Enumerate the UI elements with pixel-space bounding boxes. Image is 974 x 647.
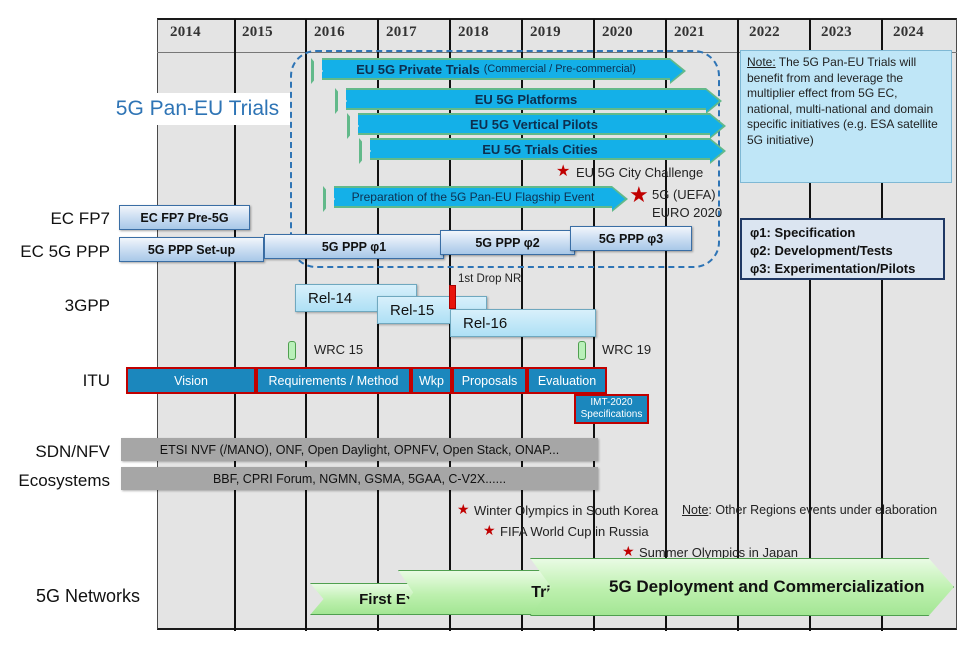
star-icon-summer-olympics: ★ (622, 544, 635, 558)
bar-itu-wkp[interactable]: Wkp (411, 367, 452, 394)
bar-label: Evaluation (538, 374, 596, 388)
label-5g-uefa: 5G (UEFA) (652, 187, 716, 202)
label-summer-olympics: Summer Olympics in Japan (639, 545, 798, 560)
label-eu-5g-city-challenge: EU 5G City Challenge (576, 165, 703, 180)
year-label-2015: 2015 (242, 24, 273, 41)
bar-label: Preparation of the 5G Pan-EU Flagship Ev… (352, 190, 595, 204)
chevron-head-inner-icon (706, 90, 719, 112)
chevron-head-inner-icon (710, 115, 723, 137)
bar-label: Vision (174, 374, 208, 388)
regions-note-text: : Other Regions events under elaboration (708, 503, 937, 517)
grid-line (665, 19, 667, 631)
bar-ecosystems[interactable]: BBF, CPRI Forum, NGMN, GSMA, 5GAA, C-V2X… (121, 467, 598, 490)
year-label-2019: 2019 (530, 24, 561, 41)
wrc-15-marker-icon (288, 341, 296, 360)
chevron-head-inner-icon (710, 140, 723, 162)
row-label-itu: ITU (0, 371, 110, 391)
chevron-tail-inner-icon (326, 188, 335, 210)
bar-label: Wkp (419, 374, 444, 388)
chevron-tail-inner-icon (350, 115, 359, 137)
bar-sublabel: (Commercial / Pre-commercial) (484, 63, 636, 75)
label-fifa-world-cup: FIFA World Cup in Russia (500, 524, 649, 539)
bar-5g-ppp-phi2[interactable]: 5G PPP φ2 (440, 230, 575, 255)
bar-eu-5g-platforms[interactable]: EU 5G Platforms (346, 88, 706, 110)
phase-2: φ2: Development/Tests (750, 242, 935, 260)
star-icon-winter-olympics: ★ (457, 502, 470, 516)
bar-label: Rel-16 (463, 315, 507, 332)
phase-legend: φ1: Specification φ2: Development/Tests … (740, 218, 945, 280)
regions-note: Note: Other Regions events under elabora… (682, 503, 937, 517)
bar-itu-evaluation[interactable]: Evaluation (527, 367, 607, 394)
year-label-2018: 2018 (458, 24, 489, 41)
chevron-tail-inner-icon (314, 60, 323, 82)
timeline-diagram: 2014 2015 2016 2017 2018 2019 2020 2021 … (0, 0, 974, 647)
bar-label: Rel-15 (390, 302, 434, 319)
arrow-label: 5G Deployment and Commercialization (609, 577, 925, 597)
imt-line-2: Specifications (581, 409, 643, 421)
bar-itu-vision[interactable]: Vision (126, 367, 256, 394)
row-label-ec-fp7: EC FP7 (0, 209, 110, 229)
star-icon-uefa-euro: ★ (629, 184, 649, 206)
bar-label: 5G PPP φ3 (599, 232, 663, 246)
grid-line (377, 19, 379, 631)
year-label-2016: 2016 (314, 24, 345, 41)
wrc-19-marker-icon (578, 341, 586, 360)
year-label-2017: 2017 (386, 24, 417, 41)
bar-eu-5g-vertical-pilots[interactable]: EU 5G Vertical Pilots (358, 113, 710, 135)
bar-sdn-nfv[interactable]: ETSI NVF (/MANO), ONF, Open Daylight, OP… (121, 438, 598, 461)
row-label-3gpp: 3GPP (0, 296, 110, 316)
imt-line-1: IMT-2020 (590, 397, 632, 409)
bar-label: 5G PPP Set-up (148, 243, 235, 257)
bar-label: 5G PPP φ2 (475, 236, 539, 250)
label-wrc-19: WRC 19 (602, 342, 651, 357)
bar-label: Rel-14 (308, 290, 352, 307)
bar-5g-ppp-phi1[interactable]: 5G PPP φ1 (264, 234, 444, 259)
bar-label: EU 5G Vertical Pilots (470, 117, 598, 132)
regions-note-label: Note (682, 503, 708, 517)
bar-eu-5g-private-trials[interactable]: EU 5G Private Trials (Commercial / Pre-c… (322, 58, 670, 80)
box-imt-2020-specifications[interactable]: IMT-2020 Specifications (574, 394, 649, 424)
bar-label: EU 5G Platforms (475, 92, 578, 107)
first-drop-nr-marker-icon (449, 285, 456, 309)
star-icon-fifa-world-cup: ★ (483, 523, 496, 537)
bar-5g-ppp-setup[interactable]: 5G PPP Set-up (119, 237, 264, 262)
bar-rel-16[interactable]: Rel-16 (450, 309, 596, 337)
bar-label: EU 5G Trials Cities (482, 142, 598, 157)
phase-1: φ1: Specification (750, 224, 935, 242)
year-label-2022: 2022 (749, 24, 780, 41)
year-label-2020: 2020 (602, 24, 633, 41)
star-icon-city-challenge: ★ (556, 164, 570, 180)
pan-eu-title: 5G Pan-EU Trials (105, 93, 290, 125)
row-label-ecosystems: Ecosystems (0, 471, 110, 491)
bar-label: 5G PPP φ1 (322, 240, 386, 254)
bar-label: EC FP7 Pre-5G (140, 211, 228, 225)
bar-label: BBF, CPRI Forum, NGMN, GSMA, 5GAA, C-V2X… (213, 472, 506, 486)
row-label-sdn-nfv: SDN/NFV (0, 442, 110, 462)
bar-eu-5g-trials-cities[interactable]: EU 5G Trials Cities (370, 138, 710, 160)
phase-3: φ3: Experimentation/Pilots (750, 260, 935, 278)
bar-preparation-flagship-event[interactable]: Preparation of the 5G Pan-EU Flagship Ev… (334, 186, 612, 208)
bar-itu-requirements-method[interactable]: Requirements / Method (256, 367, 411, 394)
label-first-drop-nr: 1st Drop NR (458, 273, 521, 285)
bar-label: Proposals (462, 374, 518, 388)
bar-label: Requirements / Method (269, 374, 399, 388)
year-label-2014: 2014 (170, 24, 201, 41)
chevron-tail-inner-icon (338, 90, 347, 112)
arrow-5g-deployment-commercialization[interactable]: 5G Deployment and Commercialization (530, 558, 954, 616)
row-label-5g-networks: 5G Networks (0, 586, 140, 607)
bar-label: ETSI NVF (/MANO), ONF, Open Daylight, OP… (160, 443, 559, 457)
pan-eu-note: Note: The 5G Pan-EU Trials will benefit … (740, 50, 952, 183)
bar-ec-fp7-pre-5g[interactable]: EC FP7 Pre-5G (119, 205, 250, 230)
chevron-head-inner-icon (670, 60, 683, 82)
row-label-ec-5g-ppp: EC 5G PPP (0, 242, 110, 262)
chevron-head-inner-icon (612, 188, 625, 210)
note-text: The 5G Pan-EU Trials will benefit from a… (747, 55, 938, 147)
label-wrc-15: WRC 15 (314, 342, 363, 357)
year-label-2021: 2021 (674, 24, 705, 41)
grid-line (305, 19, 307, 631)
label-euro-2020: EURO 2020 (652, 205, 722, 220)
bar-itu-proposals[interactable]: Proposals (452, 367, 527, 394)
chevron-tail-inner-icon (362, 140, 371, 162)
bar-5g-ppp-phi3[interactable]: 5G PPP φ3 (570, 226, 692, 251)
year-label-2024: 2024 (893, 24, 924, 41)
grid-line (737, 19, 739, 631)
note-label: Note: (747, 55, 776, 69)
bar-label: EU 5G Private Trials (356, 62, 480, 77)
year-label-2023: 2023 (821, 24, 852, 41)
label-winter-olympics: Winter Olympics in South Korea (474, 503, 658, 518)
